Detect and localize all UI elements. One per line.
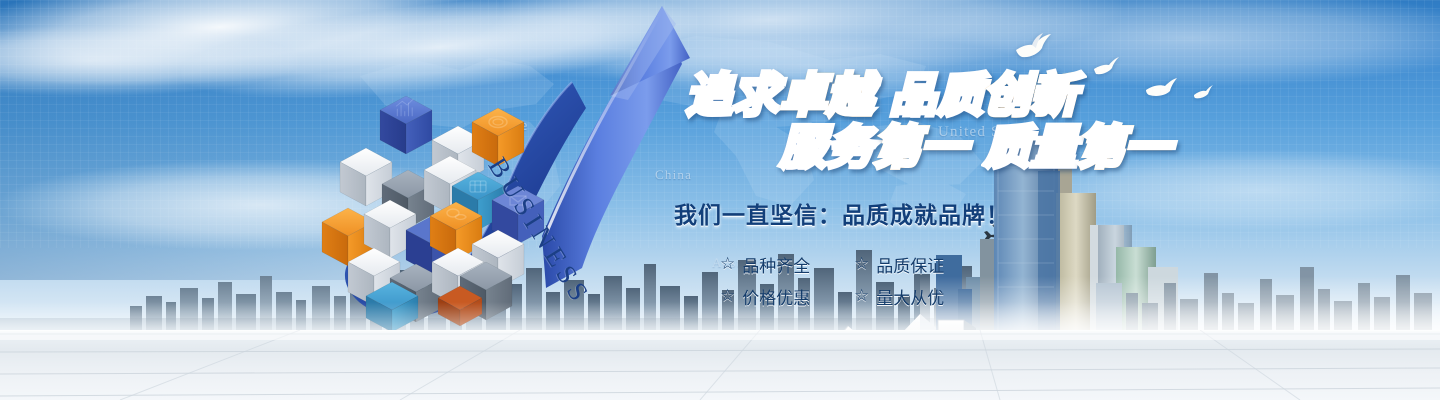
banner-copy: 追求卓越品质创新 服务第一质量第一 我们一直坚信：品质成就品牌！ ☆ 品种齐全 …: [672, 72, 1232, 309]
promo-banner: Europe United States China Australia: [0, 0, 1440, 400]
headline-word: 质量: [984, 124, 1078, 170]
feature-item: ☆ 品种齐全: [720, 252, 838, 277]
feature-item: ☆ 品质保证: [854, 252, 972, 277]
star-icon: ☆: [854, 288, 869, 305]
star-icon: ☆: [854, 256, 869, 273]
feature-item: ☆ 价格优惠: [720, 284, 838, 309]
headline-word: 第一: [874, 124, 968, 170]
feature-label: 量大从优: [876, 284, 944, 309]
star-icon: ☆: [720, 288, 735, 305]
headline-word: 服务: [780, 124, 874, 170]
feature-item: ☆ 量大从优: [854, 284, 972, 309]
rubiks-cube: [320, 90, 550, 320]
feature-list: ☆ 品种齐全 ☆ 品质保证 ☆ 价格优惠 ☆ 量大从优: [720, 252, 1232, 309]
banner-subline: 我们一直坚信：品质成就品牌！: [674, 196, 1232, 230]
headline-word: 追求: [686, 72, 780, 118]
headline-line-1: 追求卓越品质创新: [686, 72, 1232, 118]
star-icon: ☆: [720, 256, 735, 273]
headline-word: 品质: [890, 72, 984, 118]
ground-plane: [0, 330, 1440, 400]
feature-label: 价格优惠: [742, 284, 810, 309]
headline-line-2: 服务第一质量第一: [780, 124, 1232, 170]
headline-word: 第一: [1078, 124, 1172, 170]
feature-label: 品质保证: [876, 252, 944, 277]
ground-perspective-lines: [0, 330, 1440, 400]
headline-word: 创新: [984, 72, 1078, 118]
feature-label: 品种齐全: [742, 252, 810, 277]
headline-word: 卓越: [780, 72, 874, 118]
